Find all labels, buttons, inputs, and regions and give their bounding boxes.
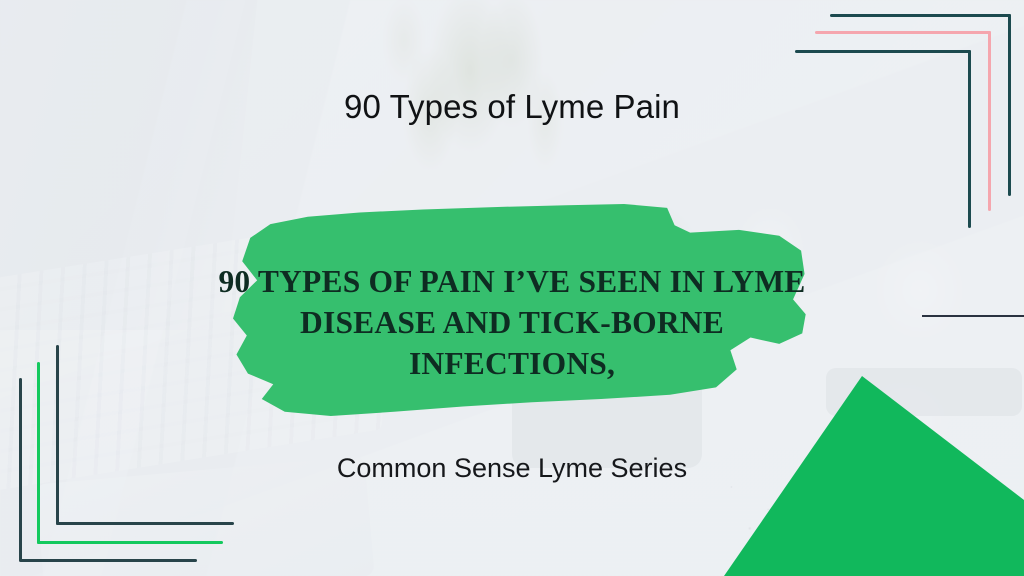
series-subtitle: Common Sense Lyme Series xyxy=(0,452,1024,484)
inner-dark-bracket-vertical xyxy=(968,50,971,228)
outer-dark-bracket-horizontal xyxy=(830,14,1011,17)
green-bracket-horizontal xyxy=(37,541,223,544)
outer-dark-bracket-horizontal xyxy=(19,559,197,562)
pink-bracket-horizontal xyxy=(815,31,991,34)
inner-dark-bracket-vertical xyxy=(56,345,59,525)
inner-dark-bracket-horizontal xyxy=(56,522,234,525)
headline-text: 90 TYPES OF PAIN I’VE SEEN IN LYME DISEA… xyxy=(212,262,812,385)
inner-dark-bracket-horizontal xyxy=(795,50,971,53)
page-title: 90 Types of Lyme Pain xyxy=(0,88,1024,126)
thin-horizontal-rule xyxy=(922,315,1024,317)
slide-canvas: 90 Types of Lyme Pain 90 TYPES OF PAIN I… xyxy=(0,0,1024,576)
